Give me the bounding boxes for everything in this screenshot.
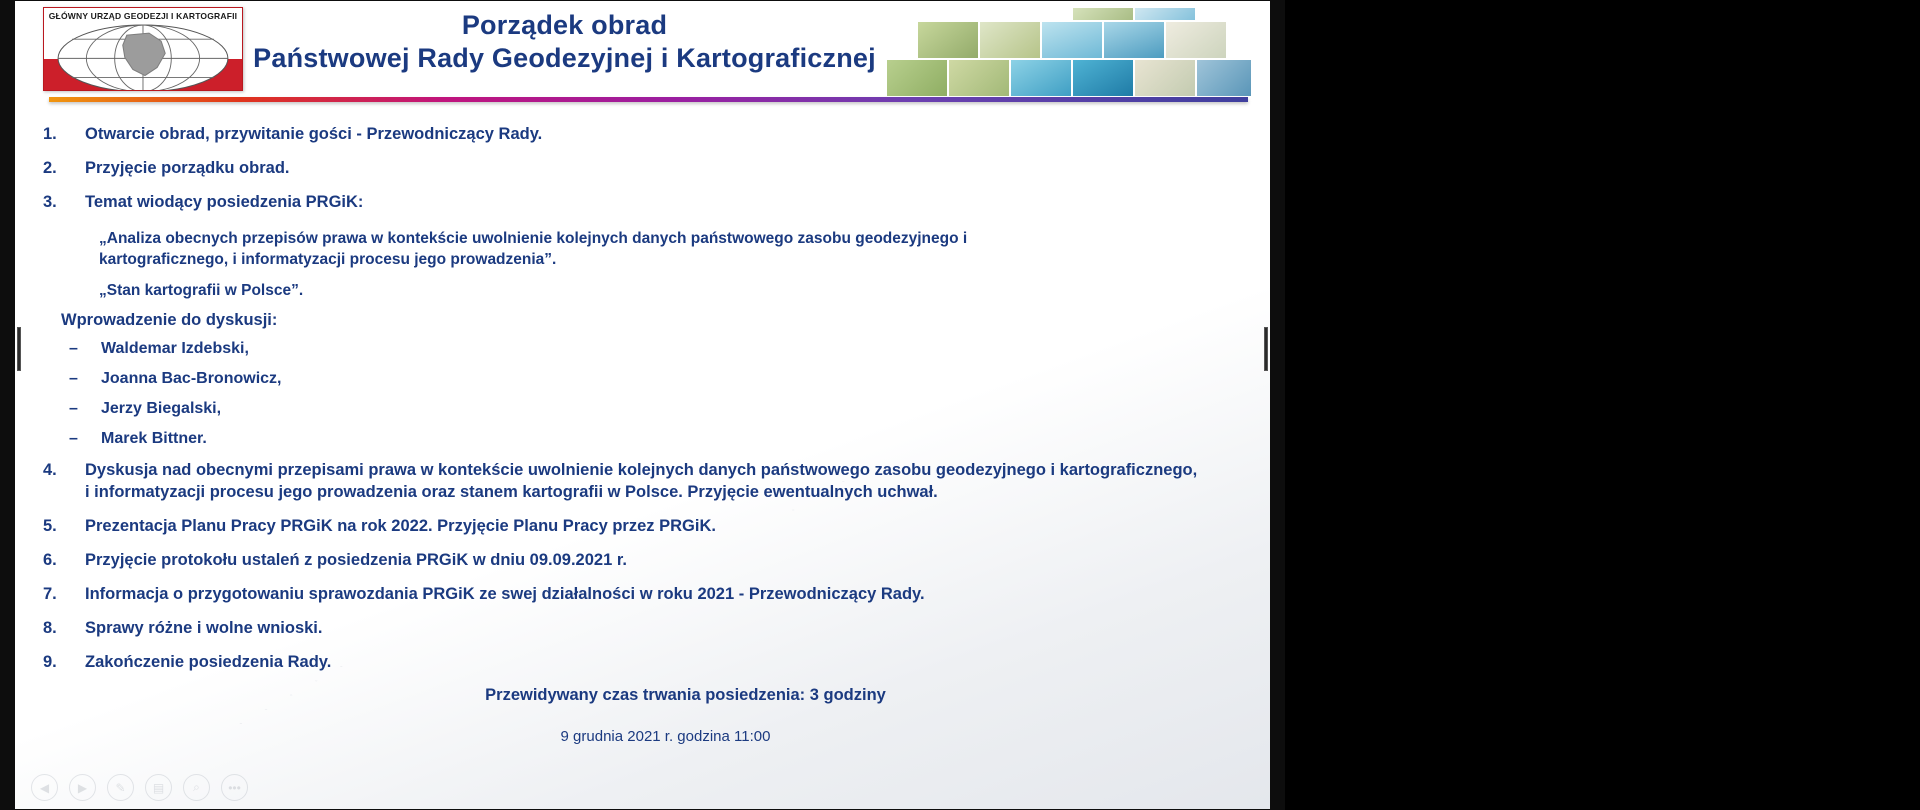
agenda-item: 2. Przyjęcie porządku obrad. xyxy=(41,158,1250,179)
agenda-item-number: 6. xyxy=(41,550,85,571)
meeting-screen-share-window: GŁÓWNY URZĄD GEODEZJI I KARTOGRAFII xyxy=(0,0,1920,810)
previous-slide-icon[interactable]: ◀ xyxy=(31,774,58,801)
slide-title-line-1: Porządek obrad xyxy=(243,9,886,42)
globe-graphic-icon xyxy=(52,23,234,91)
agenda-item-number: 5. xyxy=(41,516,85,537)
speaker-list-item: – Marek Bittner. xyxy=(41,430,1250,448)
leading-topic-quotes: „Analiza obecnych przepisów prawa w kont… xyxy=(41,226,1250,301)
slide-header: GŁÓWNY URZĄD GEODEZJI I KARTOGRAFII xyxy=(15,1,1270,97)
agenda-item-number: 2. xyxy=(41,158,85,179)
agenda-item-text: Przyjęcie porządku obrad. xyxy=(85,158,1250,179)
agenda-item-number: 3. xyxy=(41,192,85,213)
agenda-item-text: Prezentacja Planu Pracy PRGiK na rok 202… xyxy=(85,516,1250,537)
speaker-name: Marek Bittner. xyxy=(101,430,207,448)
next-slide-icon[interactable]: ▶ xyxy=(69,774,96,801)
speaker-list-item: – Jerzy Biegalski, xyxy=(41,400,1250,418)
slide-title-block: Porządek obrad Państwowej Rady Geodezyjn… xyxy=(243,7,886,75)
slideshow-controls[interactable]: ◀ ▶ ✎ ▤ ⌕ ••• xyxy=(31,774,248,801)
agenda-item-text: Sprawy różne i wolne wnioski. xyxy=(85,618,1250,639)
agenda-item-number: 9. xyxy=(41,652,85,673)
topic-quote: „Analiza obecnych przepisów prawa w kont… xyxy=(99,228,1250,271)
gugik-logo-text: GŁÓWNY URZĄD GEODEZJI I KARTOGRAFII xyxy=(44,11,242,21)
zoom-icon[interactable]: ⌕ xyxy=(183,774,210,801)
datetime-note: 9 grudnia 2021 r. godzina 11:00 xyxy=(41,727,1250,747)
dash-bullet: – xyxy=(69,400,101,418)
speaker-list-item: – Joanna Bac-Bronowicz, xyxy=(41,370,1250,388)
agenda-item: 5. Prezentacja Planu Pracy PRGiK na rok … xyxy=(41,516,1250,537)
participant-filmstrip: Główny Urząd Geodezji i Kartografii geop… xyxy=(1285,0,1920,810)
speaker-name: Jerzy Biegalski, xyxy=(101,400,221,418)
agenda-item: 4. Dyskusja nad obecnymi przepisami praw… xyxy=(41,460,1250,503)
agenda-item: 8. Sprawy różne i wolne wnioski. xyxy=(41,618,1250,639)
map-mosaic-graphic xyxy=(886,7,1252,97)
discussion-intro-label: Wprowadzenie do dyskusji: xyxy=(41,310,1250,331)
gugik-logo: GŁÓWNY URZĄD GEODEZJI I KARTOGRAFII xyxy=(43,7,243,91)
agenda-item: 1. Otwarcie obrad, przywitanie gości - P… xyxy=(41,124,1250,145)
share-frame-handle-left[interactable] xyxy=(17,327,21,371)
pen-icon[interactable]: ✎ xyxy=(107,774,134,801)
shared-screen-stage[interactable]: GŁÓWNY URZĄD GEODEZJI I KARTOGRAFII xyxy=(0,0,1285,810)
speaker-name: Joanna Bac-Bronowicz, xyxy=(101,370,281,388)
presentation-slide[interactable]: GŁÓWNY URZĄD GEODEZJI I KARTOGRAFII xyxy=(15,1,1270,809)
agenda-item-text: Otwarcie obrad, przywitanie gości - Prze… xyxy=(85,124,1250,145)
agenda-item-number: 4. xyxy=(41,460,85,481)
slide-title-line-2: Państwowej Rady Geodezyjnej i Kartografi… xyxy=(243,42,886,75)
agenda-item-text: Informacja o przygotowaniu sprawozdania … xyxy=(85,584,1250,605)
dash-bullet: – xyxy=(69,430,101,448)
dash-bullet: – xyxy=(69,340,101,358)
slide-footer: Przewidywany czas trwania posiedzenia: 3… xyxy=(41,685,1250,746)
dash-bullet: – xyxy=(69,370,101,388)
agenda-item: 9. Zakończenie posiedzenia Rady. xyxy=(41,652,1250,673)
agenda-item-text: Temat wiodący posiedzenia PRGiK: xyxy=(85,192,1250,213)
agenda-item-number: 8. xyxy=(41,618,85,639)
agenda-list: 1. Otwarcie obrad, przywitanie gości - P… xyxy=(15,102,1270,746)
agenda-item-text: Dyskusja nad obecnymi przepisami prawa w… xyxy=(85,460,1250,503)
agenda-item-text: Przyjęcie protokołu ustaleń z posiedzeni… xyxy=(85,550,1250,571)
more-options-icon[interactable]: ••• xyxy=(221,774,248,801)
agenda-item: 3. Temat wiodący posiedzenia PRGiK: xyxy=(41,192,1250,213)
speaker-name: Waldemar Izdebski, xyxy=(101,340,249,358)
agenda-item: 7. Informacja o przygotowaniu sprawozdan… xyxy=(41,584,1250,605)
share-frame-handle-right[interactable] xyxy=(1264,327,1268,371)
duration-note: Przewidywany czas trwania posiedzenia: 3… xyxy=(41,685,1250,706)
agenda-item-number: 7. xyxy=(41,584,85,605)
topic-quote: „Stan kartografii w Polsce”. xyxy=(99,280,1250,301)
speaker-list-item: – Waldemar Izdebski, xyxy=(41,340,1250,358)
agenda-item: 6. Przyjęcie protokołu ustaleń z posiedz… xyxy=(41,550,1250,571)
agenda-item-text: Zakończenie posiedzenia Rady. xyxy=(85,652,1250,673)
all-slides-icon[interactable]: ▤ xyxy=(145,774,172,801)
agenda-item-number: 1. xyxy=(41,124,85,145)
